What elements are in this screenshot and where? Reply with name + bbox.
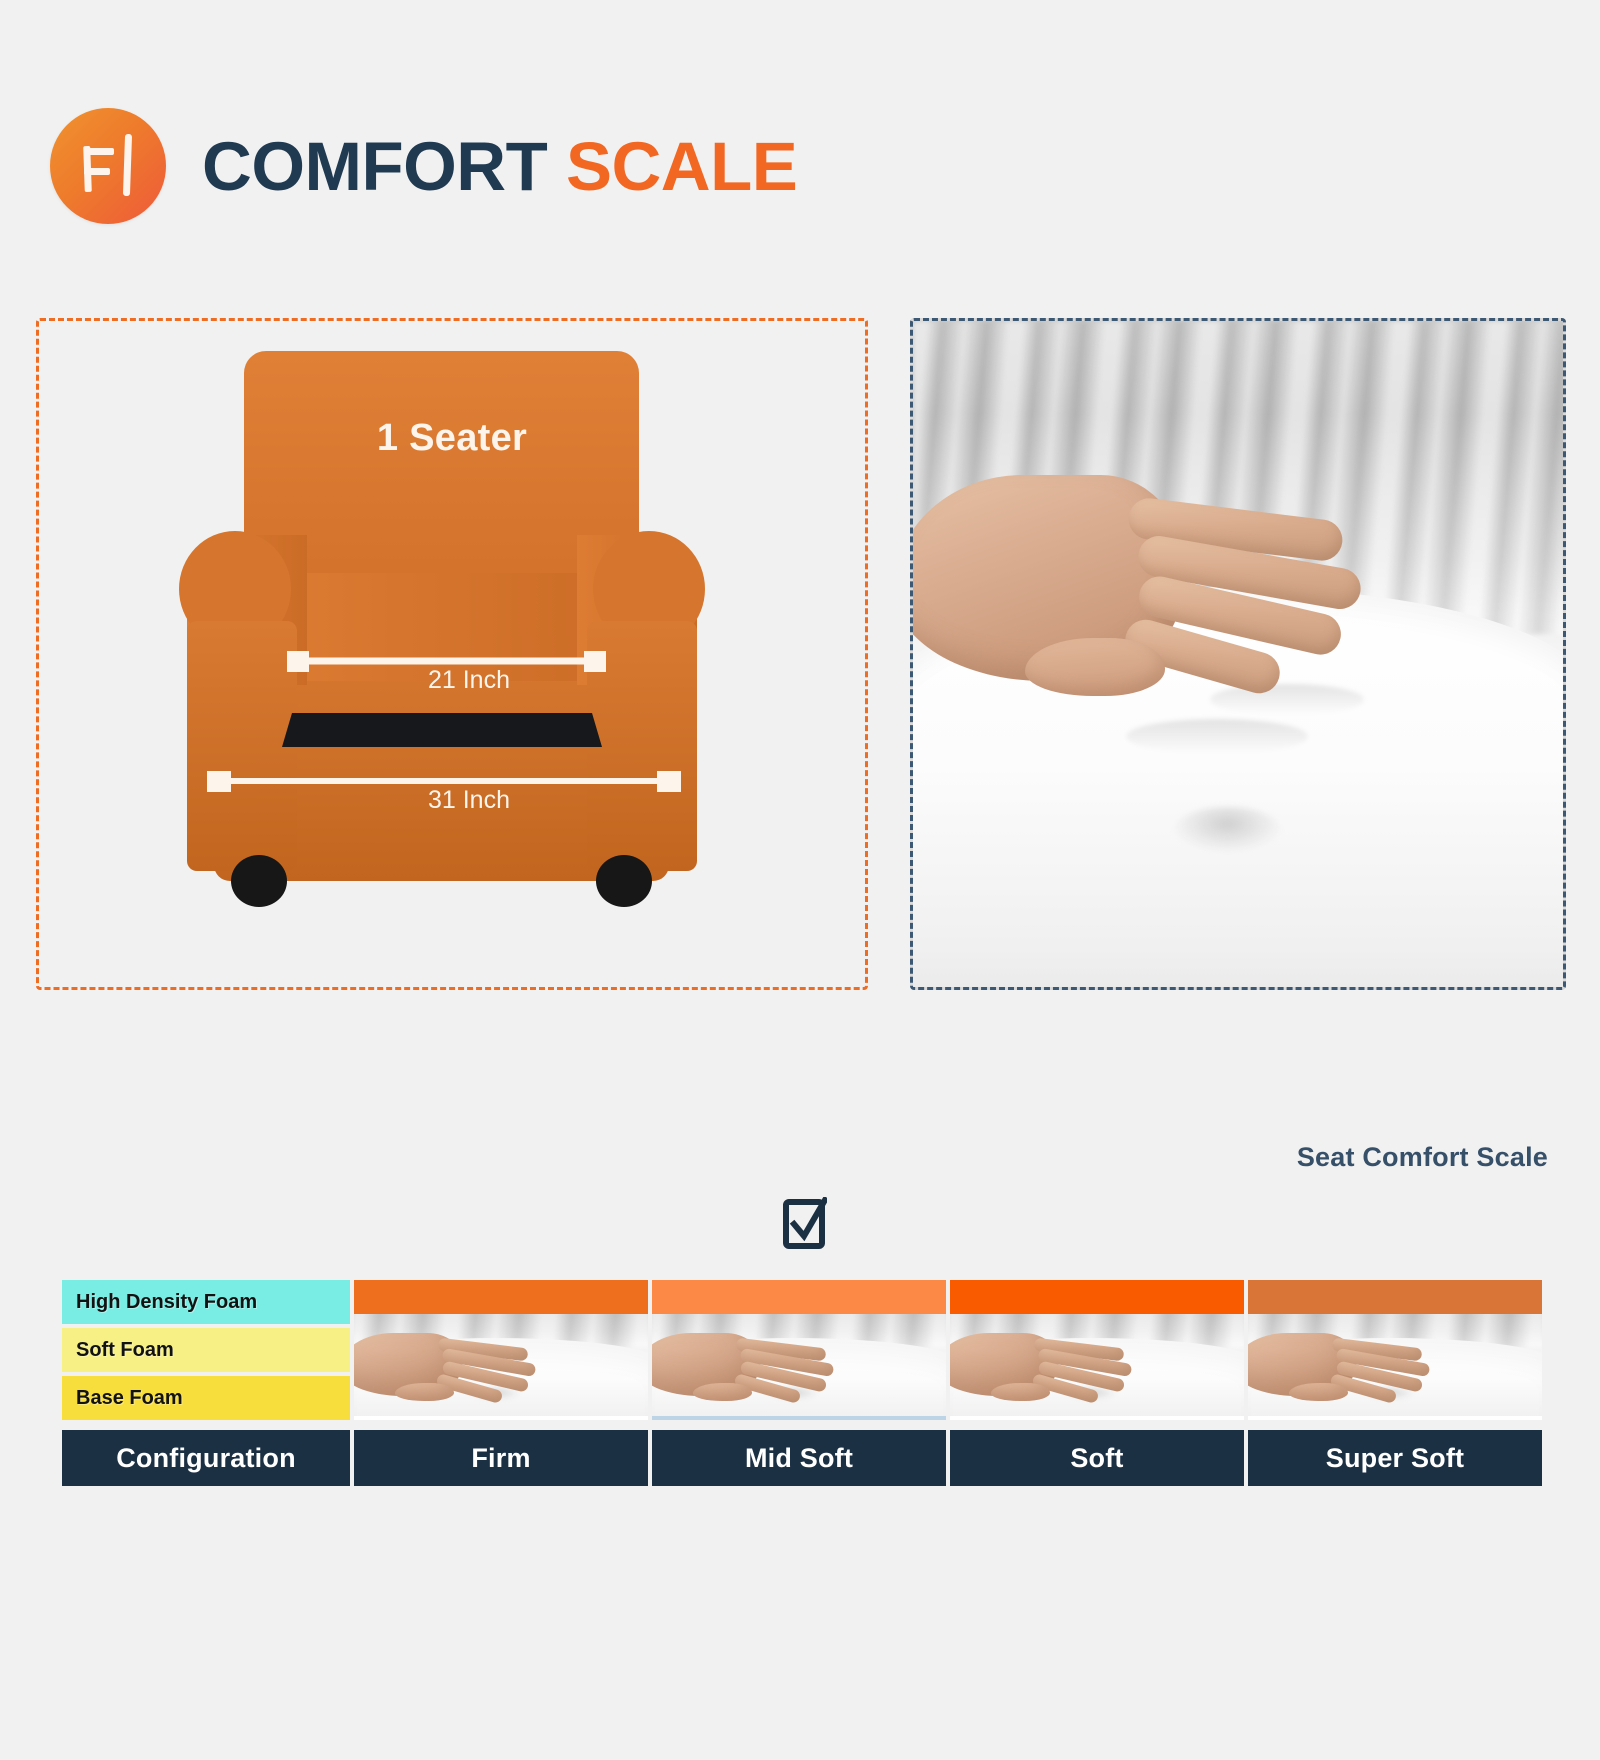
legend-row-high-density-foam: High Density Foam [62, 1280, 350, 1324]
config-cell-super-soft[interactable]: Super Soft [1248, 1430, 1542, 1486]
page-title: COMFORT SCALE [202, 132, 797, 201]
hand-graphic [910, 461, 1362, 701]
panels-row: 1 Seater 21 Inch 31 Inch [36, 318, 1566, 990]
config-label: Soft [1070, 1443, 1123, 1474]
foam-photo-thumb [354, 1314, 648, 1420]
foam-photo-thumb [652, 1314, 946, 1420]
cell-underline [354, 1416, 648, 1420]
comfort-scale-table: High Density Foam Soft Foam Base Foam [62, 1280, 1542, 1486]
config-cell-firm[interactable]: Firm [354, 1430, 648, 1486]
fi-monogram-logo-icon [50, 108, 166, 224]
foam-photo-image [913, 321, 1563, 987]
configuration-header-label: Configuration [116, 1443, 296, 1474]
page-header: COMFORT SCALE [50, 108, 797, 224]
legend-row-soft-foam: Soft Foam [62, 1328, 350, 1372]
comfort-cell-super-soft[interactable] [1248, 1280, 1542, 1420]
seat-comfort-scale-title: Seat Comfort Scale [1297, 1142, 1548, 1173]
high-density-foam-bar [1248, 1280, 1542, 1314]
config-label: Firm [471, 1443, 530, 1474]
page-title-accent: SCALE [566, 128, 797, 205]
foam-crease [1126, 719, 1309, 754]
one-seater-chair-illustration [39, 321, 865, 987]
legend-label: High Density Foam [76, 1291, 257, 1314]
seater-dimensions-panel: 1 Seater 21 Inch 31 Inch [36, 318, 868, 990]
foam-photo-thumb [950, 1314, 1244, 1420]
comfort-cell-soft[interactable] [950, 1280, 1244, 1420]
config-label: Mid Soft [745, 1443, 853, 1474]
comfort-scale-grid: High Density Foam Soft Foam Base Foam [62, 1280, 1542, 1420]
high-density-foam-bar [354, 1280, 648, 1314]
config-cell-soft[interactable]: Soft [950, 1430, 1244, 1486]
cell-underline [652, 1416, 946, 1420]
cell-underline [1248, 1416, 1542, 1420]
comfort-cell-mid-soft[interactable] [652, 1280, 946, 1420]
legend-label: Soft Foam [76, 1339, 174, 1362]
legend-row-base-foam: Base Foam [62, 1376, 350, 1420]
configuration-row: Configuration Firm Mid Soft Soft Super S… [62, 1430, 1542, 1486]
config-label: Super Soft [1326, 1443, 1465, 1474]
high-density-foam-bar [652, 1280, 946, 1314]
thumb [1025, 638, 1165, 696]
legend-label: Base Foam [76, 1387, 183, 1410]
config-cell-mid-soft[interactable]: Mid Soft [652, 1430, 946, 1486]
configuration-header-cell: Configuration [62, 1430, 350, 1486]
checkbox-checked-icon[interactable] [783, 1197, 827, 1249]
foam-photo-thumb [1248, 1314, 1542, 1420]
high-density-foam-bar [950, 1280, 1244, 1314]
foam-hand-photo-panel [910, 318, 1566, 990]
comfort-cell-firm[interactable] [354, 1280, 648, 1420]
foam-legend-column: High Density Foam Soft Foam Base Foam [62, 1280, 350, 1420]
foam-dimple [1175, 807, 1280, 851]
page-title-main: COMFORT [202, 128, 547, 205]
cell-underline [950, 1416, 1244, 1420]
